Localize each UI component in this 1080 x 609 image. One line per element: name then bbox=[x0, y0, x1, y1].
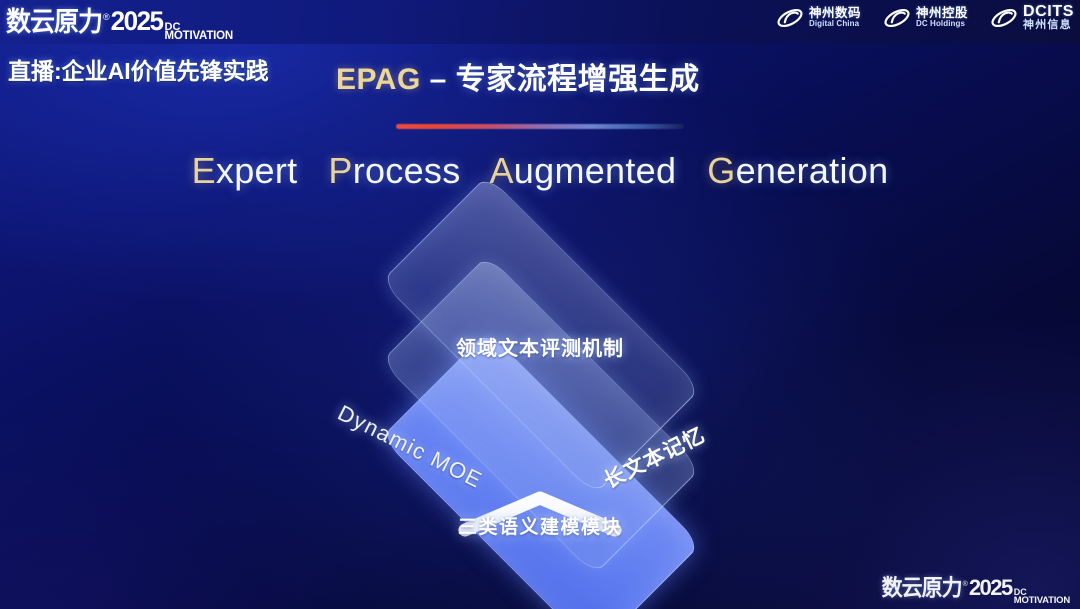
partner-logo-digital-china: 神州数码 Digital China bbox=[776, 5, 861, 31]
subtitle-remainder: rocess bbox=[353, 150, 461, 191]
brand-name-cn: 数云原力 bbox=[6, 1, 102, 40]
watermark-dc-motivation: DC MOTIVATION bbox=[1014, 589, 1070, 605]
subtitle-remainder: xpert bbox=[216, 150, 298, 191]
subtitle-remainder: eneration bbox=[736, 150, 889, 191]
event-brand-logo: 数云原力 ® 2025 DC MOTIVATION bbox=[6, 2, 233, 42]
subtitle-initial: P bbox=[328, 150, 352, 191]
subtitle-word: Augmented bbox=[489, 150, 676, 191]
presentation-slide: 数云原力 ® 2025 DC MOTIVATION 直播:企业AI价值先锋实践 … bbox=[0, 0, 1080, 609]
subtitle-word: Expert bbox=[192, 150, 298, 191]
watermark-brand-cn: 数云原力 bbox=[882, 571, 962, 603]
subtitle-word: Generation bbox=[707, 150, 888, 191]
headline-rest: – 专家流程增强生成 bbox=[421, 63, 700, 96]
subtitle-space bbox=[687, 150, 697, 191]
partner-text: DCITS 神州信息 bbox=[1023, 4, 1074, 32]
subtitle-word: Process bbox=[328, 150, 460, 191]
partner-name-en: DCITS bbox=[1023, 4, 1074, 20]
subtitle-initial: E bbox=[192, 150, 216, 191]
isometric-layer-stack: 领域文本评测机制 Dynamic MOE 长文本记忆 三类语义建模模块 bbox=[283, 222, 797, 562]
swirl-icon bbox=[776, 5, 804, 31]
headline-acronym: EPAG bbox=[336, 63, 421, 96]
live-session-title: 直播:企业AI价值先锋实践 bbox=[8, 52, 269, 86]
watermark-year: 2025 bbox=[969, 575, 1012, 602]
brand-motivation-label: MOTIVATION bbox=[165, 32, 233, 42]
subtitle-space bbox=[308, 150, 318, 191]
partner-text: 神州数码 Digital China bbox=[809, 7, 861, 28]
partner-name-en: Digital China bbox=[809, 20, 861, 28]
chevron-up-icon bbox=[455, 486, 625, 540]
partner-logo-dcits: DCITS 神州信息 bbox=[990, 4, 1074, 32]
partner-name-cn: 神州信息 bbox=[1023, 20, 1074, 31]
watermark-registered-mark: ® bbox=[963, 581, 968, 588]
slide-headline: EPAG – 专家流程增强生成 bbox=[336, 54, 700, 98]
partner-logo-row: 神州数码 Digital China 神州控股 DC Holdings DCIT… bbox=[776, 4, 1074, 32]
subtitle-remainder: ugmented bbox=[514, 150, 677, 191]
brand-year: 2025 bbox=[111, 6, 163, 38]
slide-subtitle: Expert Process Augmented Generation bbox=[0, 150, 1080, 192]
accent-divider bbox=[396, 124, 684, 129]
watermark-motivation-label: MOTIVATION bbox=[1014, 597, 1070, 605]
registered-mark: ® bbox=[103, 12, 110, 22]
swirl-icon bbox=[990, 5, 1018, 31]
partner-name-en: DC Holdings bbox=[916, 20, 968, 28]
partner-text: 神州控股 DC Holdings bbox=[916, 7, 968, 28]
brand-dc-motivation: DC MOTIVATION bbox=[165, 23, 233, 42]
subtitle-initial: G bbox=[707, 150, 735, 191]
partner-logo-dc-holdings: 神州控股 DC Holdings bbox=[883, 5, 968, 31]
swirl-icon bbox=[883, 5, 911, 31]
footer-watermark-logo: 数云原力 ® 2025 DC MOTIVATION bbox=[882, 572, 1070, 605]
